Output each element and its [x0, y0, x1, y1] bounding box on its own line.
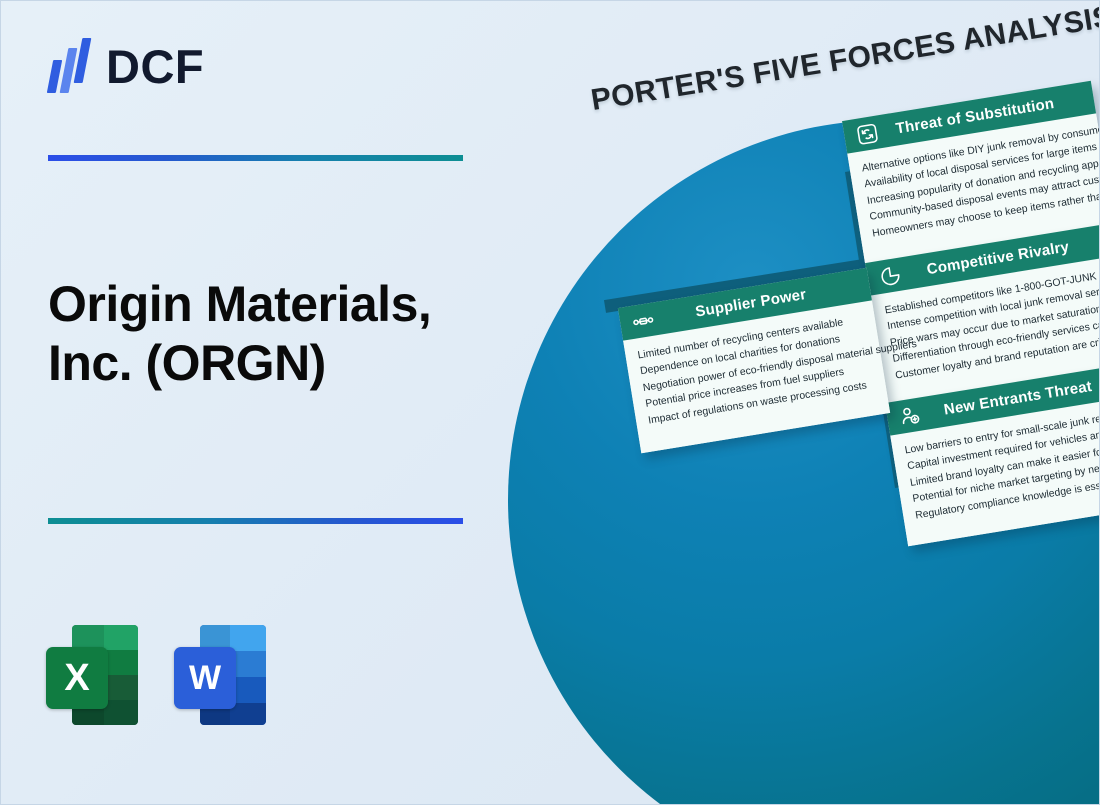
divider-top [48, 155, 463, 161]
excel-file-icon[interactable]: X [46, 625, 138, 725]
page-title: Origin Materials, Inc. (ORGN) [48, 275, 488, 393]
left-info-panel: DCF Origin Materials, Inc. (ORGN) X [0, 0, 560, 805]
file-format-icons: X W [46, 625, 266, 725]
divider-bottom [48, 518, 463, 524]
dcf-bars-logo-icon [48, 38, 92, 94]
excel-letter: X [46, 647, 108, 709]
word-file-icon[interactable]: W [174, 625, 266, 725]
slide-canvas: PORTER'S FIVE FORCES ANALYSIS Threat of … [0, 0, 1100, 805]
word-letter: W [174, 647, 236, 709]
brand-name: DCF [106, 43, 204, 90]
brand-lockup[interactable]: DCF [48, 38, 204, 94]
